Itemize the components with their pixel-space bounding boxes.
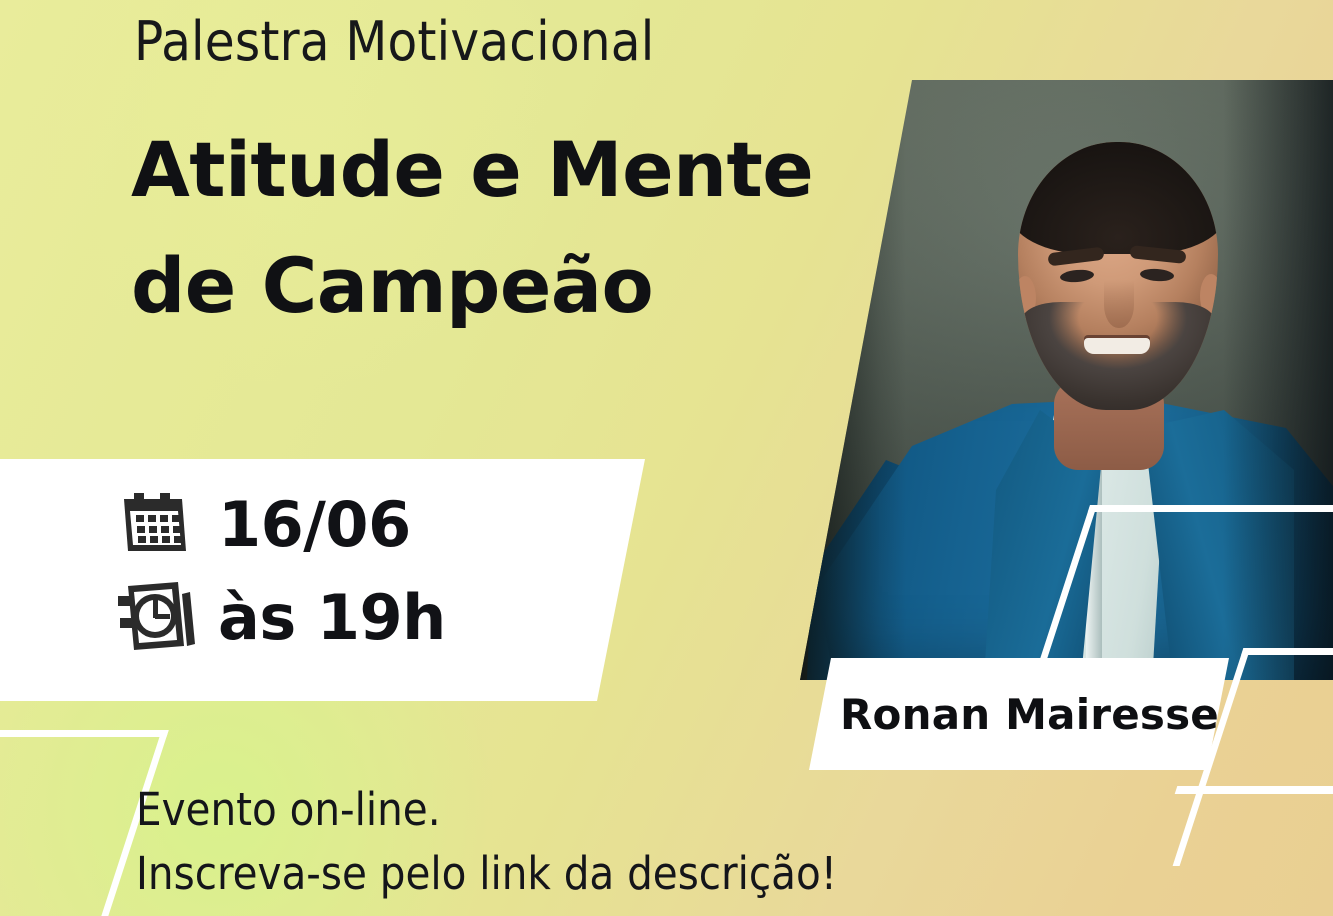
event-time-row: às 19h [116,578,446,656]
eye-left [1060,269,1095,284]
event-time: às 19h [218,581,446,654]
beard [1022,302,1214,410]
eye-right [1140,268,1175,282]
page-title: Atitude e Mente de Campeão [131,112,813,343]
event-date: 16/06 [218,488,411,561]
calendar-icon [120,489,192,561]
decorative-stripe-bottom-right [1175,786,1333,794]
event-poster: Palestra Motivacional Atitude e Mente de… [0,0,1333,916]
footer-line-2: Inscreva-se pelo link da descrição! [136,842,837,906]
title-line-1: Atitude e Mente [131,125,813,214]
hair [1018,142,1218,254]
mouth [1084,338,1150,354]
footer-text: Evento on-line. Inscreva-se pelo link da… [136,778,837,906]
speaker-name: Ronan Mairesse [840,690,1219,739]
face [1018,142,1218,410]
clock-icon [116,578,198,656]
poster-kicker: Palestra Motivacional [134,14,654,71]
footer-line-1: Evento on-line. [136,778,837,842]
title-line-2: de Campeão [131,228,813,344]
event-date-row: 16/06 [120,488,411,561]
